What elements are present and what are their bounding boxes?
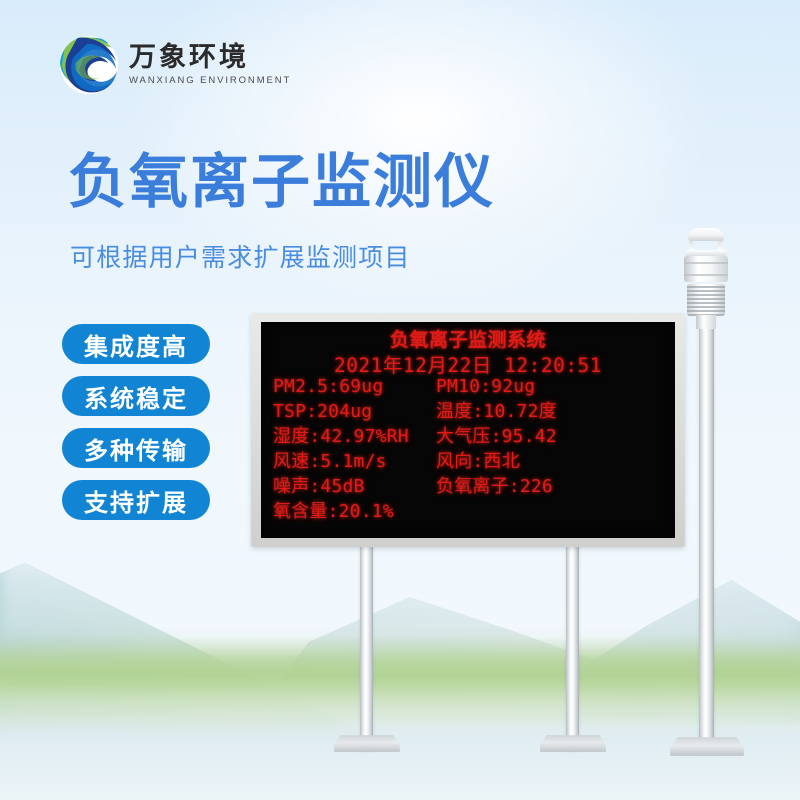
page-subtitle: 可根据用户需求扩展监测项目 — [70, 238, 411, 274]
feature-badge: 系统稳定 — [62, 376, 210, 416]
brand-logo: 万象环境 WANXIANG ENVIRONMENT — [58, 34, 291, 96]
feature-badge: 多种传输 — [62, 428, 210, 468]
brand-name-en: WANXIANG ENVIRONMENT — [129, 75, 291, 86]
sensor-mast-base — [670, 737, 744, 756]
led-readings-grid: PM2.5:69ug PM10:92ug TSP:204ug 温度:10.72度… — [273, 374, 667, 524]
led-display-board[interactable]: 负氧离子监测系统 2021年12月22日 12:20:51 PM2.5:69ug… — [251, 313, 685, 547]
led-reading-negative-ion: 负氧离子:226 — [436, 474, 667, 499]
feature-badge-label: 集成度高 — [84, 327, 188, 362]
led-reading-pm10: PM10:92ug — [436, 374, 667, 399]
led-reading-winddirection: 风向:西北 — [436, 449, 667, 474]
feature-badge: 集成度高 — [62, 324, 210, 364]
board-support-base-left — [334, 735, 400, 752]
sensor-ring — [684, 274, 728, 276]
radiation-shield-shading — [687, 284, 725, 316]
sensor-body — [684, 256, 728, 282]
product-poster: 万象环境 WANXIANG ENVIRONMENT 负氧离子监测仪 可根据用户需… — [0, 0, 800, 800]
sensor-neck — [696, 315, 716, 329]
brand-name-cn: 万象环境 — [129, 44, 291, 72]
led-reading-temperature: 温度:10.72度 — [436, 399, 667, 424]
green-field-band — [0, 648, 800, 706]
led-screen-title: 负氧离子监测系统 — [261, 325, 675, 352]
sensor-mast — [699, 318, 714, 753]
led-reading-pressure: 大气压:95.42 — [436, 424, 667, 449]
board-support-pole-right — [566, 545, 579, 750]
board-support-pole-left — [360, 545, 373, 750]
sensor-ring — [684, 262, 728, 264]
led-reading-tsp: TSP:204ug — [273, 399, 436, 424]
feature-badge: 支持扩展 — [62, 480, 210, 520]
led-reading-empty — [436, 499, 667, 524]
weather-sensor-head — [676, 228, 736, 324]
feature-badge-list: 集成度高 系统稳定 多种传输 支持扩展 — [62, 324, 210, 520]
globe-swirl-logo-icon — [58, 34, 120, 96]
led-screen: 负氧离子监测系统 2021年12月22日 12:20:51 PM2.5:69ug… — [261, 322, 675, 538]
feature-badge-label: 系统稳定 — [84, 379, 188, 414]
sensor-cap-icon — [688, 228, 724, 241]
led-reading-noise: 噪声:45dB — [273, 474, 436, 499]
page-title: 负氧离子监测仪 — [68, 152, 495, 211]
board-support-base-right — [540, 735, 606, 752]
led-reading-pm25: PM2.5:69ug — [273, 374, 436, 399]
feature-badge-label: 多种传输 — [84, 431, 188, 466]
led-reading-humidity: 湿度:42.97%RH — [273, 424, 436, 449]
led-reading-windspeed: 风速:5.1m/s — [273, 449, 436, 474]
feature-badge-label: 支持扩展 — [84, 483, 188, 518]
led-reading-oxygen: 氧含量:20.1% — [273, 499, 436, 524]
